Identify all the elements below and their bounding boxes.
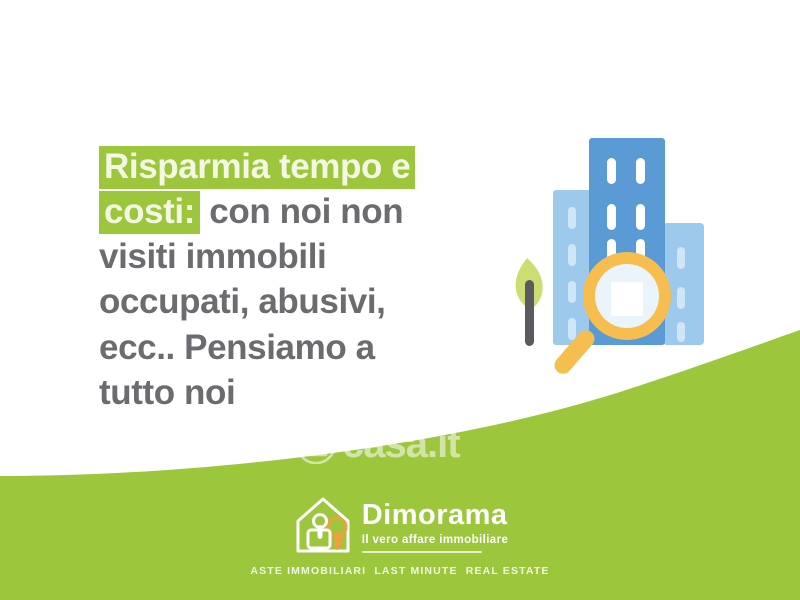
dimorama-logo: Dimorama Il vero affare immobiliare ASTE… (0, 494, 800, 577)
watermark-label: casa.it (342, 424, 460, 464)
headline-highlight-1: Risparmia tempo e (99, 146, 415, 189)
buildings-magnifier-illustration (505, 132, 730, 380)
logo-tagline: Il vero affare immobiliare (362, 535, 509, 547)
house-keys-icon (292, 494, 354, 556)
headline-line-6: tutto noi (99, 370, 499, 415)
house-circle-icon (296, 424, 336, 464)
logo-footer-text: ASTE IMMOBILIARI LAST MINUTE REAL ESTATE (250, 565, 549, 577)
logo-row: Dimorama Il vero affare immobiliare (292, 494, 509, 556)
logo-divider (362, 551, 482, 553)
casa-it-watermark: casa.it (296, 424, 460, 464)
headline-text-2: con noi non (200, 192, 403, 231)
tree (514, 257, 545, 346)
logo-name: Dimorama (362, 501, 508, 530)
headline-line-1: Risparmia tempo e (99, 144, 499, 189)
advertisement-banner: casa.it Risparmia tempo e costi: con noi… (0, 0, 800, 600)
page-title: Risparmia tempo e costi: con noi non vis… (99, 144, 499, 415)
headline-line-2: costi: con noi non (99, 189, 499, 234)
headline-line-4: occupati, abusivi, (99, 279, 499, 324)
logo-words: Dimorama Il vero affare immobiliare (362, 501, 509, 554)
headline-highlight-2: costi: (99, 191, 200, 234)
headline-line-3: visiti immobili (99, 234, 499, 279)
headline-line-5: ecc.. Pensiamo a (99, 325, 499, 370)
